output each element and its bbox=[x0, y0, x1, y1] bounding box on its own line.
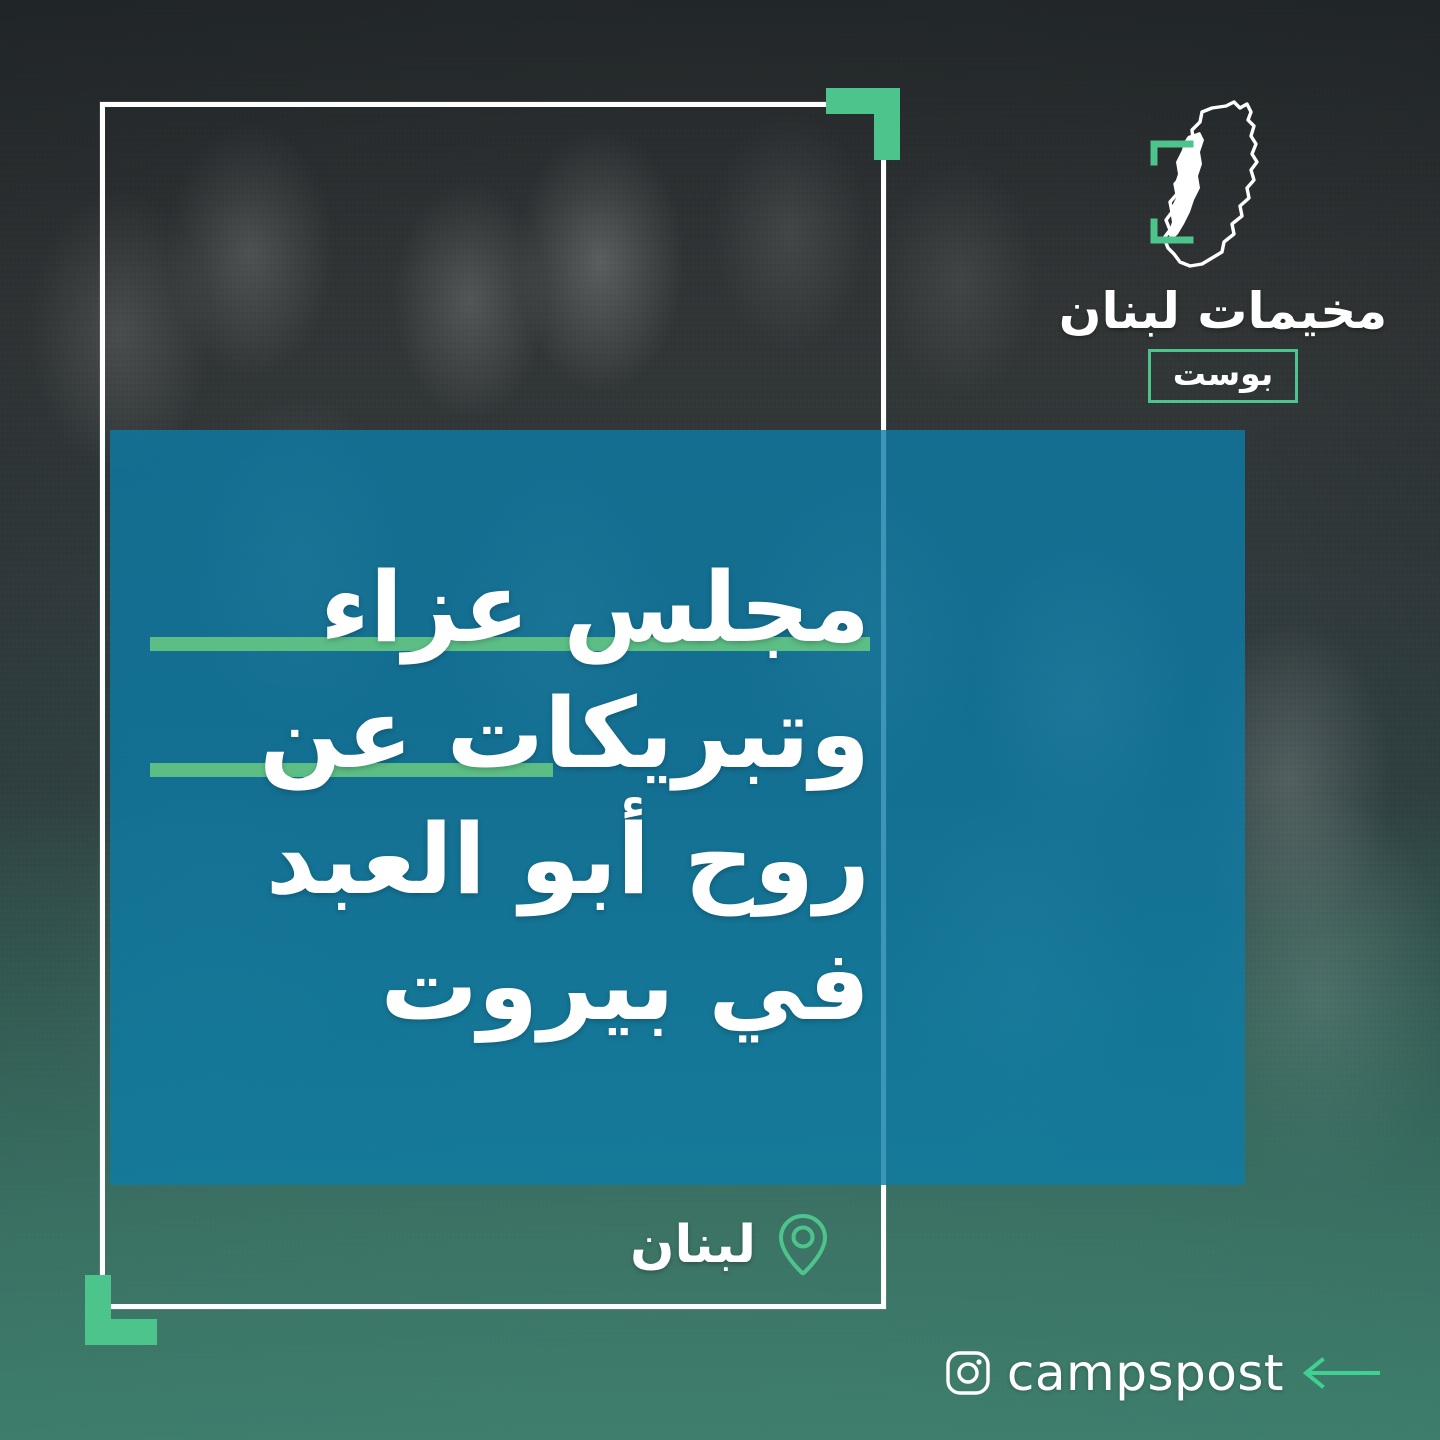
headline-line-1-text: مجلس عزاء bbox=[320, 551, 870, 664]
headline-line-2-text: وتبريكات عن bbox=[259, 677, 870, 790]
lebanon-palestine-map-emblem-icon bbox=[1130, 98, 1316, 278]
instagram-handle-row[interactable]: campspost bbox=[945, 1344, 1382, 1402]
corner-bracket-top-right bbox=[826, 88, 900, 160]
headline-line-4: في بيروت bbox=[150, 923, 870, 1049]
location-row: لبنان bbox=[630, 1212, 832, 1278]
map-pin-icon bbox=[774, 1212, 832, 1278]
arrow-left-icon bbox=[1300, 1356, 1382, 1390]
headline-text: مجلس عزاء وتبريكات عن روح أبو العبد في ب… bbox=[150, 545, 870, 1049]
brand-logo: مخيمات لبنان بوست bbox=[1078, 98, 1368, 403]
logo-wordmark: مخيمات لبنان bbox=[1059, 282, 1387, 340]
corner-bracket-bottom-left bbox=[85, 1275, 157, 1345]
headline-line-3-text: روح أبو العبد bbox=[266, 803, 870, 916]
logo-badge: بوست bbox=[1148, 349, 1298, 403]
social-media-poster: مجلس عزاء وتبريكات عن روح أبو العبد في ب… bbox=[0, 0, 1440, 1440]
instagram-handle[interactable]: campspost bbox=[1007, 1344, 1284, 1402]
headline-line-2: وتبريكات عن bbox=[150, 671, 870, 797]
headline-line-1: مجلس عزاء bbox=[150, 545, 870, 671]
location-label: لبنان bbox=[630, 1215, 756, 1275]
headline-line-3: روح أبو العبد bbox=[150, 797, 870, 923]
headline-line-4-text: في بيروت bbox=[380, 929, 870, 1042]
instagram-icon[interactable] bbox=[945, 1350, 991, 1396]
